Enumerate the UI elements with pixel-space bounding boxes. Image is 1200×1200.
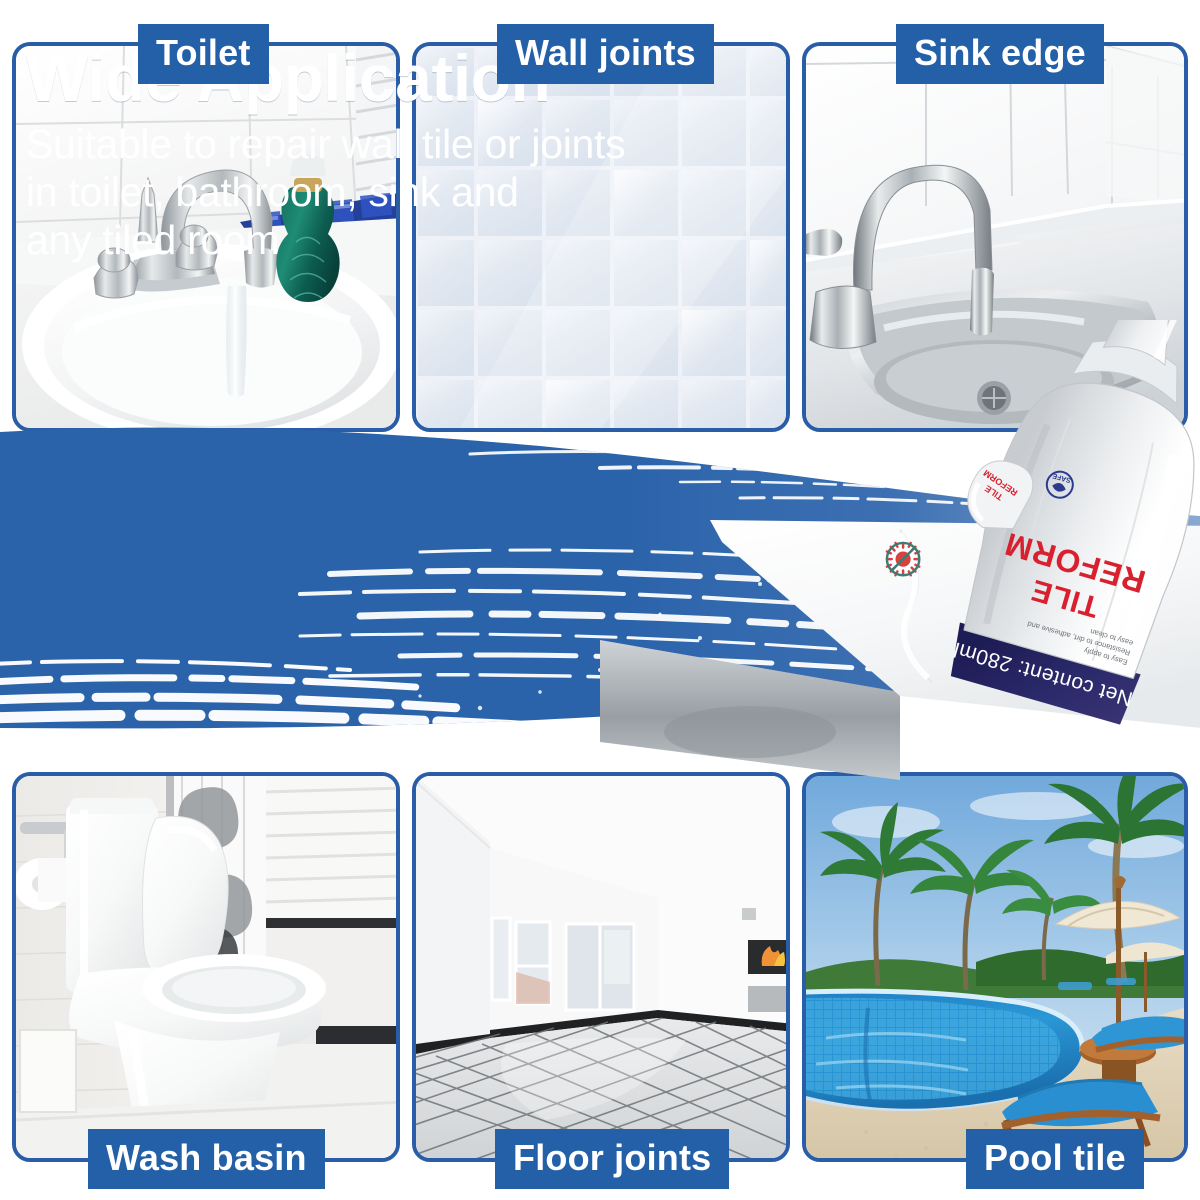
product-infographic: Toilet [0, 0, 1200, 1200]
empty-room-illustration [416, 776, 786, 1158]
panel-label-toilet: Toilet [138, 24, 269, 84]
banner-subtitle: Suitable to repair wall tile or joints i… [26, 121, 625, 265]
panel-label-pool-tile: Pool tile [966, 1129, 1144, 1189]
resort-pool-illustration [806, 776, 1184, 1158]
panel-label-floor-joints: Floor joints [495, 1129, 729, 1189]
tile-reform-bottle-illustration: TILE REFORM Net content: 280ml Easy to a… [940, 320, 1200, 740]
panel-pool-tile [802, 772, 1188, 1162]
photo-toilet-bathroom [16, 776, 396, 1158]
anti-virus-icon [887, 543, 919, 575]
panel-wash-basin [12, 772, 400, 1162]
banner-subtitle-line-1: Suitable to repair wall tile or joints [26, 121, 625, 169]
photo-empty-room [416, 776, 786, 1158]
panel-label-sink-edge: Sink edge [896, 24, 1104, 84]
panel-label-wall-joints: Wall joints [497, 24, 714, 84]
product-bottle: TILE REFORM Net content: 280ml Easy to a… [940, 320, 1200, 740]
panel-floor-joints [412, 772, 790, 1162]
panel-label-wash-basin: Wash basin [88, 1129, 325, 1189]
photo-resort-pool [806, 776, 1184, 1158]
banner-subtitle-line-2: in toilet, bathroom, sink and [26, 169, 625, 217]
toilet-illustration [16, 776, 396, 1158]
banner-subtitle-line-3: any tiled room [26, 217, 625, 265]
